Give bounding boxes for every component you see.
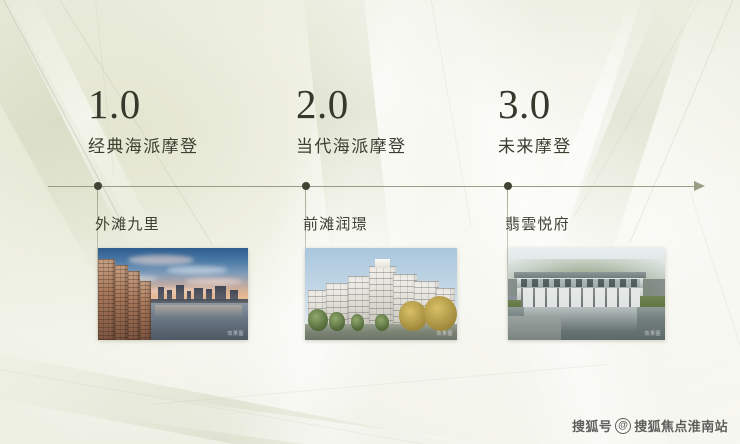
at-sign-icon: @: [615, 418, 631, 434]
timeline-node-dot-1[interactable]: [94, 182, 102, 190]
stage-1-project-name: 外滩九里: [95, 217, 160, 232]
photo-2-tree-3: [351, 314, 365, 331]
watermark-account: 搜狐焦点淮南站: [634, 416, 728, 435]
photo-2-center-crown: [375, 259, 390, 268]
stage-1-photo[interactable]: 效果图: [98, 248, 248, 340]
photo-1-watermark: 效果图: [227, 330, 244, 337]
photo-1-water-reflection: [155, 305, 242, 318]
photo-3-colonnade: [521, 288, 640, 306]
photo-3-watermark: 效果图: [644, 330, 661, 337]
timeline-stage-3[interactable]: 3.0 未来摩登: [498, 84, 572, 155]
photo-1-foreground-tower-2: [115, 265, 129, 340]
timeline-axis-line: [48, 186, 700, 187]
photo-2-tree-6: [424, 296, 457, 331]
photo-2-tree-4: [375, 314, 389, 331]
photo-1-foreground-tower-3: [128, 271, 140, 340]
sohu-watermark: 搜狐号 @ 搜狐焦点淮南站: [572, 416, 728, 435]
stage-1-number: 1.0: [88, 84, 198, 125]
stage-3-subtitle: 未来摩登: [498, 138, 572, 155]
photo-2-tree-5: [399, 301, 426, 330]
photo-3-deck: [508, 316, 561, 340]
timeline-node-dot-2[interactable]: [302, 182, 310, 190]
photo-1-cloud-3: [185, 278, 242, 284]
stage-2-project-name: 前滩润璟: [303, 217, 368, 232]
photo-3-upper-glazing: [521, 279, 640, 286]
photo-2-tree-1: [308, 309, 328, 331]
stage-3-project-name: 翡雲悦府: [505, 217, 570, 232]
photo-1-cloud-2: [167, 266, 227, 273]
stage-2-number: 2.0: [296, 84, 406, 125]
photo-2-watermark: 效果图: [436, 330, 453, 337]
watermark-prefix: 搜狐号: [572, 416, 612, 435]
timeline-stage-2[interactable]: 2.0 当代海派摩登: [296, 84, 406, 155]
stage-3-photo[interactable]: 效果图: [508, 248, 665, 340]
slide-canvas: 1.0 经典海派摩登 外滩九里 效果图 2.0 当代海派摩登 前滩润璟: [0, 0, 740, 444]
stage-3-number: 3.0: [498, 84, 572, 125]
photo-2-tree-2: [329, 312, 344, 330]
photo-1-foreground-tower-4: [140, 281, 151, 340]
photo-1-foreground-tower-1: [98, 259, 115, 340]
timeline-stage-1[interactable]: 1.0 经典海派摩登: [88, 84, 198, 155]
stage-1-subtitle: 经典海派摩登: [88, 138, 198, 155]
timeline-arrow-icon: [694, 181, 705, 191]
timeline-node-dot-3[interactable]: [504, 182, 512, 190]
stage-2-photo[interactable]: 效果图: [305, 248, 457, 340]
stage-2-subtitle: 当代海派摩登: [296, 138, 406, 155]
